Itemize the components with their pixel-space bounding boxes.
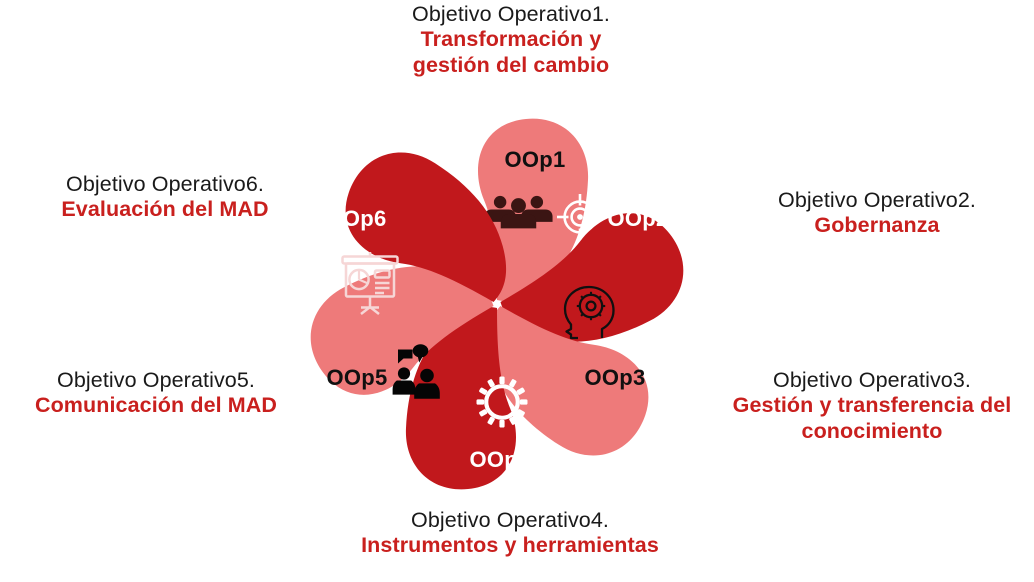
petal-oop6-code: OOp6 [325,206,386,231]
label-oop3: Objetivo Operativo3. Gestión y transfere… [712,368,1032,444]
petal-oop1-code: OOp1 [504,147,565,172]
label-oop4-lead: Objetivo Operativo4. [330,508,690,533]
petal-oop4-code: OOp4 [469,447,531,472]
label-oop4-emph-line1: Instrumentos y herramientas [330,533,690,558]
petal-oop2-code: OOp2 [607,206,668,231]
label-oop6: Objetivo Operativo6. Evaluación del MAD [22,172,308,223]
label-oop5: Objetivo Operativo5. Comunicación del MA… [10,368,302,419]
label-oop3-lead: Objetivo Operativo3. [712,368,1032,393]
diagram-canvas: Objetivo Operativo1. Transformación y ge… [0,0,1034,582]
petal-oop3-code: OOp3 [584,365,645,390]
label-oop4: Objetivo Operativo4. Instrumentos y herr… [330,508,690,559]
label-oop5-lead: Objetivo Operativo5. [10,368,302,393]
label-oop1-lead: Objetivo Operativo1. [352,2,670,27]
label-oop6-emph-line1: Evaluación del MAD [22,197,308,222]
label-oop2: Objetivo Operativo2. Gobernanza [724,188,1030,239]
pinwheel-graphic: OOp1 OOp2 [288,104,706,504]
petal-oop5-code: OOp5 [326,365,387,390]
label-oop1-emph-line1: Transformación y [352,27,670,52]
label-oop2-emph-line1: Gobernanza [724,213,1030,238]
label-oop3-emph-line2: conocimiento [712,419,1032,444]
label-oop5-emph-line1: Comunicación del MAD [10,393,302,418]
label-oop2-lead: Objetivo Operativo2. [724,188,1030,213]
label-oop3-emph-line1: Gestión y transferencia del [712,393,1032,418]
label-oop1: Objetivo Operativo1. Transformación y ge… [352,2,670,78]
pinwheel-svg: OOp1 OOp2 [288,104,706,504]
label-oop1-emph-line2: gestión del cambio [352,53,670,78]
label-oop6-lead: Objetivo Operativo6. [22,172,308,197]
